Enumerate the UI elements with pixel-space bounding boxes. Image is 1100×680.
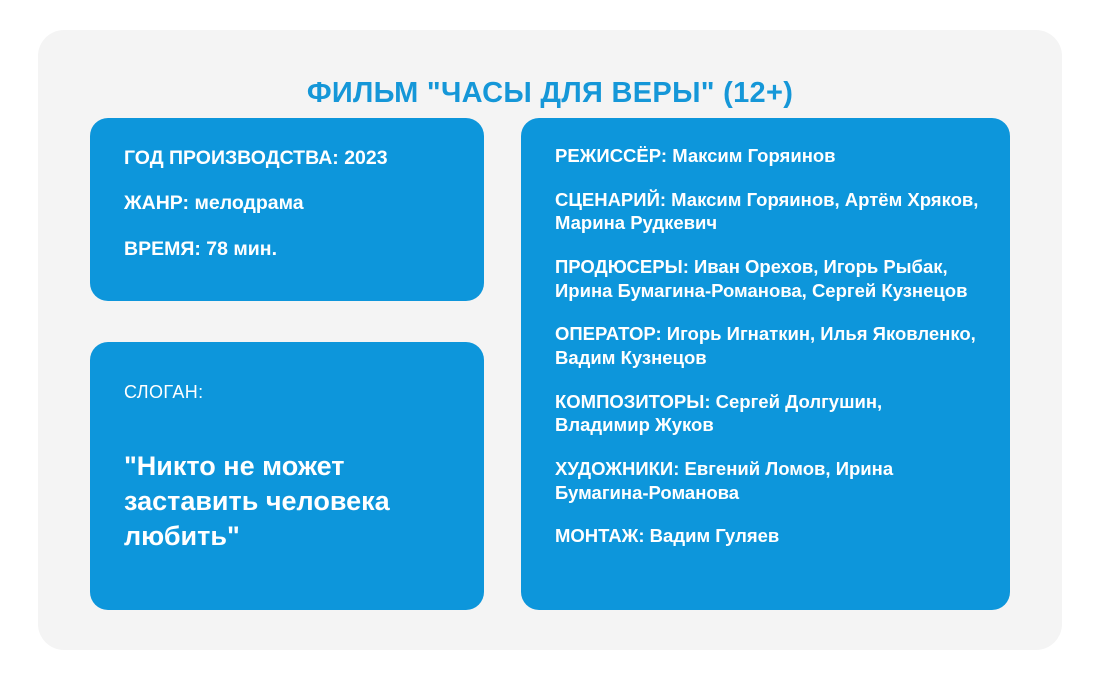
- genre-line: ЖАНР: мелодрама: [124, 191, 450, 215]
- slogan-label: СЛОГАН:: [124, 382, 450, 403]
- slogan-text: "Никто не может заставить человека любит…: [124, 449, 450, 554]
- production-designers-line: ХУДОЖНИКИ: Евгений Ломов, Ирина Бумагина…: [555, 457, 980, 504]
- slogan-panel: СЛОГАН: "Никто не может заставить челове…: [90, 342, 484, 610]
- production-details-panel: ГОД ПРОИЗВОДСТВА: 2023 ЖАНР: мелодрама В…: [90, 118, 484, 301]
- runtime-line: ВРЕМЯ: 78 мин.: [124, 237, 450, 261]
- director-line: РЕЖИССЁР: Максим Горяинов: [555, 144, 980, 168]
- screenplay-line: СЦЕНАРИЙ: Максим Горяинов, Артём Хряков,…: [555, 188, 980, 235]
- page-title: ФИЛЬМ "ЧАСЫ ДЛЯ ВЕРЫ" (12+): [38, 78, 1062, 110]
- production-year-line: ГОД ПРОИЗВОДСТВА: 2023: [124, 146, 450, 170]
- credits-panel: РЕЖИССЁР: Максим Горяинов СЦЕНАРИЙ: Макс…: [521, 118, 1010, 610]
- cinematographer-line: ОПЕРАТОР: Игорь Игнаткин, Илья Яковленко…: [555, 322, 980, 369]
- composers-line: КОМПОЗИТОРЫ: Сергей Долгушин, Владимир Ж…: [555, 390, 980, 437]
- editor-line: МОНТАЖ: Вадим Гуляев: [555, 524, 980, 548]
- producers-line: ПРОДЮСЕРЫ: Иван Орехов, Игорь Рыбак, Ири…: [555, 255, 980, 302]
- movie-info-card: ФИЛЬМ "ЧАСЫ ДЛЯ ВЕРЫ" (12+) ГОД ПРОИЗВОД…: [38, 30, 1062, 650]
